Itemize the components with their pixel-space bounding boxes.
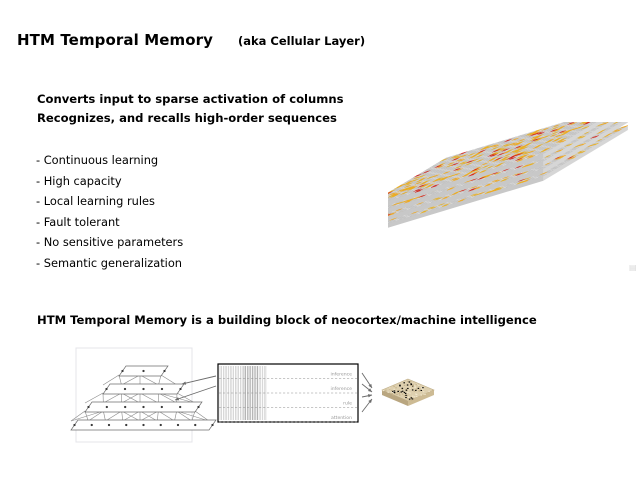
slab-texture-cell: [409, 381, 411, 382]
arrow-head: [368, 394, 372, 397]
slab-texture-cell: [418, 385, 420, 386]
slab-texture-cell: [407, 381, 409, 382]
slab-texture-cell: [394, 393, 396, 394]
slab-texture-cell: [385, 390, 387, 391]
hierarchy-link: [71, 411, 85, 421]
hierarchy-node: [211, 424, 213, 426]
corner-watermark-icon: ▤: [629, 263, 637, 272]
list-item: - Semantic generalization: [36, 253, 183, 274]
hierarchy-node: [105, 388, 107, 390]
hierarchy-node: [125, 424, 127, 426]
slab-texture-cell: [409, 393, 411, 394]
slab-texture-cell: [419, 388, 421, 389]
slab-texture-cell: [391, 393, 393, 394]
slab-texture-cell: [414, 396, 416, 397]
slab-texture-cell: [416, 394, 418, 395]
lead-statements: Converts input to sparse activation of c…: [37, 90, 344, 127]
slab-texture-cell: [405, 397, 407, 398]
hierarchy-link: [106, 411, 122, 421]
hierarchy-link: [122, 375, 141, 385]
sheet-stack: [388, 122, 628, 236]
slab-texture-cell: [428, 391, 430, 392]
slab-texture-cell: [407, 388, 409, 389]
hierarchy-node: [142, 406, 144, 408]
slab-texture-cell: [405, 395, 407, 396]
slab-texture-cell: [415, 384, 417, 385]
slab-texture-cell: [413, 386, 415, 387]
slab-texture-cell: [399, 392, 401, 393]
hierarchy-link: [140, 393, 158, 403]
slab-texture-cell: [416, 389, 418, 390]
slab-texture-cell: [405, 393, 407, 394]
slab-texture-cell: [407, 395, 409, 396]
slab-texture-cell: [418, 388, 420, 389]
slab-texture-cell: [414, 386, 416, 387]
list-item: - Fault tolerant: [36, 212, 183, 233]
slab-texture-cell: [422, 389, 424, 390]
arrow-head: [368, 384, 372, 388]
feature-list: - Continuous learning - High capacity - …: [36, 150, 183, 273]
slab-texture-cell: [406, 390, 408, 391]
lead-line: Recognizes, and recalls high-order seque…: [37, 109, 344, 128]
slab-texture-cell: [407, 392, 409, 393]
figure-caption: HTM Temporal Memory is a building block …: [37, 313, 537, 327]
slab-texture-cell: [383, 390, 385, 391]
htm-cellular-layer-3d-illustration: [388, 122, 638, 272]
hierarchy-link: [119, 375, 122, 385]
lead-line: Converts input to sparse activation of c…: [37, 90, 344, 109]
slab-texture-cell: [402, 391, 404, 392]
slab-texture-cell: [407, 398, 409, 399]
slab-texture-cell: [402, 394, 404, 395]
hierarchy-node: [106, 406, 108, 408]
hierarchy-node: [194, 424, 196, 426]
list-item: - Continuous learning: [36, 150, 183, 171]
slab-texture-cell: [401, 391, 403, 392]
slab-texture-cell: [398, 393, 400, 394]
slab-texture-cell: [418, 390, 420, 391]
bottom-composite-figure: inferenceinferenceruleattention: [70, 342, 450, 454]
page-title: HTM Temporal Memory: [17, 31, 213, 49]
page-title-suffix: (aka Cellular Layer): [238, 34, 365, 48]
list-item: - No sensitive parameters: [36, 232, 183, 253]
arrow-line: [182, 376, 216, 384]
list-item: - Local learning rules: [36, 191, 183, 212]
hierarchy-node: [179, 388, 181, 390]
slab-texture-cell: [420, 394, 422, 395]
hierarchy-node: [161, 388, 163, 390]
slab-texture-cell: [423, 393, 425, 394]
hierarchy-node: [197, 406, 199, 408]
hierarchy-link: [103, 393, 121, 403]
hierarchy-link: [161, 375, 177, 385]
slab-texture-cell: [413, 384, 415, 385]
htm-hierarchy-pyramid: [71, 366, 216, 430]
hierarchy-link: [195, 411, 209, 421]
slab-texture-cell: [399, 385, 401, 386]
hierarchy-link: [103, 375, 119, 385]
slab-texture-cell: [410, 381, 412, 382]
slab-texture-cell: [411, 397, 413, 398]
bottom-figure-svg: inferenceinferenceruleattention: [70, 342, 450, 454]
slab-texture-cell: [421, 390, 423, 391]
slab-texture-cell: [395, 387, 397, 388]
hierarchy-node: [179, 406, 181, 408]
slab-texture-cell: [424, 394, 426, 395]
slab-texture-cell: [391, 390, 393, 391]
hierarchy-link: [158, 411, 174, 421]
slab-texture-cell: [396, 394, 398, 395]
hierarchy-link: [159, 393, 177, 403]
slab-texture-cell: [409, 388, 411, 389]
hierarchy-link: [157, 411, 158, 421]
list-item: - High capacity: [36, 171, 183, 192]
hierarchy-node: [91, 424, 93, 426]
layer-label: attention: [331, 415, 352, 421]
slab-texture-cell: [416, 396, 418, 397]
slab-texture-cell: [412, 389, 414, 390]
hierarchy-node: [73, 424, 75, 426]
slab-texture-cell: [393, 389, 395, 390]
slab-texture-cell: [389, 388, 391, 389]
hierarchy-node: [142, 370, 144, 372]
hierarchy-node: [142, 388, 144, 390]
slab-texture-cell: [422, 387, 424, 388]
hierarchy-link: [159, 375, 162, 385]
slab-texture-cell: [412, 398, 414, 399]
slab-texture-cell: [423, 391, 425, 392]
slab-texture-cell: [404, 395, 406, 396]
cortical-layers-panel: inferenceinferenceruleattention: [218, 364, 358, 422]
hierarchy-node: [142, 424, 144, 426]
slab-texture-cell: [411, 400, 413, 401]
slab-texture-cell: [397, 391, 399, 392]
hierarchy-node: [160, 424, 162, 426]
hierarchy-node: [124, 406, 126, 408]
hierarchy-node: [121, 370, 123, 372]
slab-texture-cell: [414, 385, 416, 386]
layer-label: inference: [330, 386, 352, 392]
slab-texture-cell: [392, 394, 394, 395]
layer-label: rule: [343, 400, 352, 406]
slab-texture-cell: [394, 390, 396, 391]
hierarchy-link: [177, 411, 209, 421]
slab-texture-cell: [412, 396, 414, 397]
hierarchy-link: [122, 411, 123, 421]
hierarchy-node: [124, 388, 126, 390]
slab-texture-cell: [414, 391, 416, 392]
hierarchy-node: [161, 406, 163, 408]
hierarchy-link: [175, 411, 177, 421]
hierarchy-link: [103, 411, 105, 421]
slab-texture-cell: [408, 396, 410, 397]
hierarchy-node: [108, 424, 110, 426]
hierarchy-link: [177, 411, 192, 421]
slab-texture-cell: [396, 392, 398, 393]
slab-texture-cell: [393, 386, 395, 387]
slab-texture-cell: [406, 388, 408, 389]
cortical-sheet-slab: [382, 379, 434, 406]
layer-label: inference: [330, 371, 352, 377]
hierarchy-node: [177, 424, 179, 426]
slab-texture-cell: [404, 392, 406, 393]
slab-texture-cell: [407, 384, 409, 385]
hierarchy-link: [140, 375, 159, 385]
slab-texture-cell: [387, 392, 389, 393]
slab-texture-cell: [432, 390, 434, 391]
layer-illustration-svg: [388, 122, 638, 272]
slab-texture-cell: [404, 385, 406, 386]
slab-texture-cell: [402, 388, 404, 389]
slab-texture-cell: [399, 395, 401, 396]
slab-texture-cell: [403, 382, 405, 383]
slab-texture-cell: [411, 384, 413, 385]
slab-texture-cell: [398, 390, 400, 391]
hierarchy-node: [163, 370, 165, 372]
slab-texture-cell: [409, 399, 411, 400]
hierarchy-link: [88, 411, 103, 421]
hierarchy-node: [87, 406, 89, 408]
hierarchy-link: [85, 393, 103, 403]
arrows-to-slab: [362, 373, 372, 412]
